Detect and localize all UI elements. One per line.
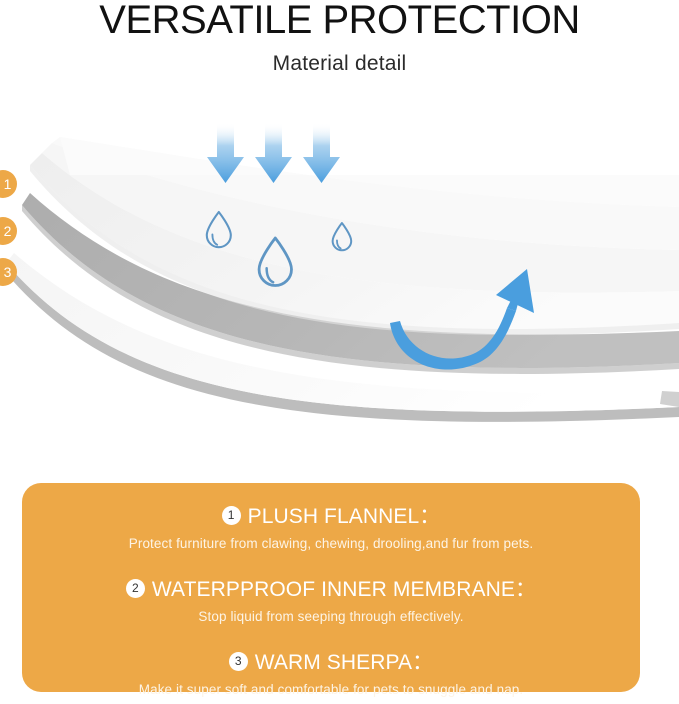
feature-title-3: WARM SHERPA： <box>255 646 434 676</box>
feature-item-waterproof-membrane: 2 WATERPPROOF INNER MEMBRANE： Stop liqui… <box>22 573 640 624</box>
feature-badge-1: 1 <box>222 506 241 525</box>
header: VERSATILE PROTECTION Material detail <box>0 0 679 95</box>
feature-badge-3: 3 <box>229 652 248 671</box>
feature-title-1: PLUSH FLANNEL： <box>248 500 441 530</box>
feature-badge-2: 2 <box>126 579 145 598</box>
feature-heading: 1 PLUSH FLANNEL： <box>222 500 441 530</box>
layer-badge-3-number: 3 <box>0 258 17 286</box>
feature-description-3: Make it super soft and comfortable for p… <box>22 682 640 697</box>
feature-item-warm-sherpa: 3 WARM SHERPA： Make it super soft and co… <box>22 646 640 697</box>
material-layers-illustration <box>0 95 679 465</box>
layer-badge-3: 3 <box>0 258 17 286</box>
layer-badge-1-number: 1 <box>0 170 17 198</box>
feature-heading: 3 WARM SHERPA： <box>229 646 434 676</box>
layers-diagram: 1 2 3 <box>0 95 679 465</box>
layer-badge-2-number: 2 <box>0 217 17 245</box>
down-arrow-icon-3 <box>303 123 340 183</box>
layer-badge-1: 1 <box>0 170 17 198</box>
feature-heading: 2 WATERPPROOF INNER MEMBRANE： <box>126 573 536 603</box>
feature-description-1: Protect furniture from clawing, chewing,… <box>22 536 640 551</box>
feature-item-plush-flannel: 1 PLUSH FLANNEL： Protect furniture from … <box>22 500 640 551</box>
page-title: VERSATILE PROTECTION <box>0 0 679 43</box>
layer-badge-2: 2 <box>0 217 17 245</box>
layer-1-plush-flannel <box>30 137 679 335</box>
feature-description-2: Stop liquid from seeping through effecti… <box>22 609 640 624</box>
feature-title-2: WATERPPROOF INNER MEMBRANE： <box>152 573 536 603</box>
feature-panel: 1 PLUSH FLANNEL： Protect furniture from … <box>22 483 640 692</box>
page-subtitle: Material detail <box>0 52 679 76</box>
